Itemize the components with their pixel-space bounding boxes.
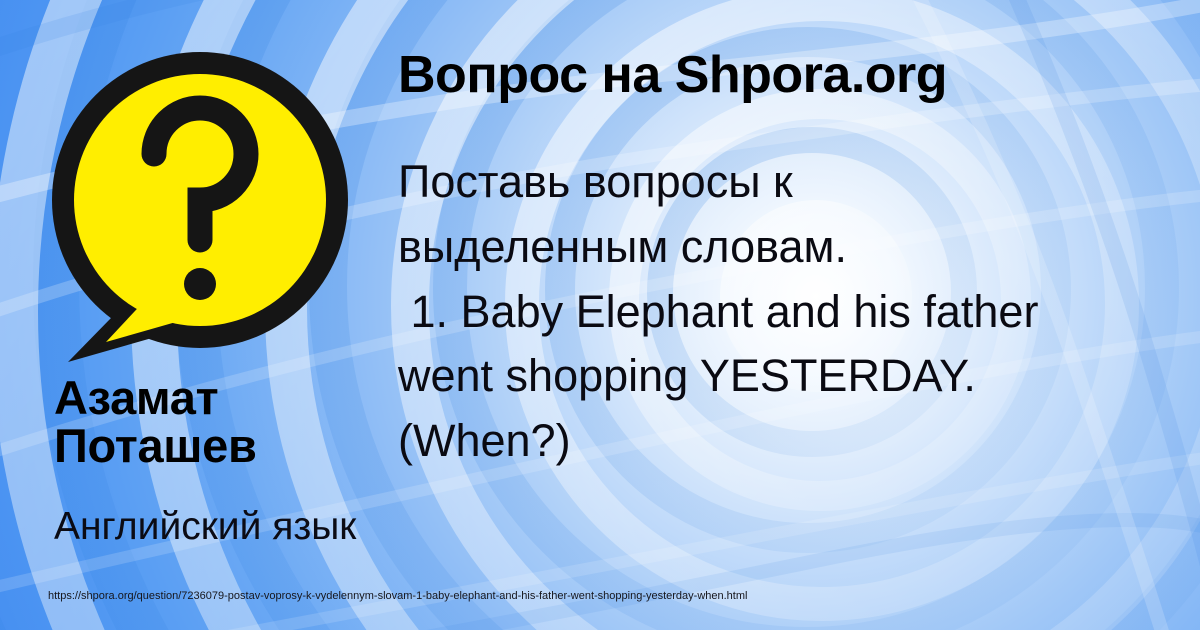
question-text: Поставь вопросы к выделенным словам. 1. …: [398, 150, 1168, 474]
page-title: Вопрос на Shpora.org: [398, 48, 1178, 103]
author-name: Азамат Поташев: [54, 374, 384, 470]
question-share-card: Вопрос на Shpora.org Поставь вопросы к в…: [0, 0, 1200, 630]
question-line: went shopping YESTERDAY.: [398, 344, 1168, 409]
subject-label: Английский язык: [54, 506, 534, 549]
question-line: Поставь вопросы к: [398, 150, 1168, 215]
question-mark-dot: [184, 268, 216, 300]
question-line: 1. Baby Elephant and his father: [398, 280, 1168, 345]
question-speech-bubble-icon: [44, 44, 356, 364]
source-url[interactable]: https://shpora.org/question/7236079-post…: [48, 589, 747, 603]
question-line: (When?): [398, 409, 1168, 474]
question-line: выделенным словам.: [398, 215, 1168, 280]
